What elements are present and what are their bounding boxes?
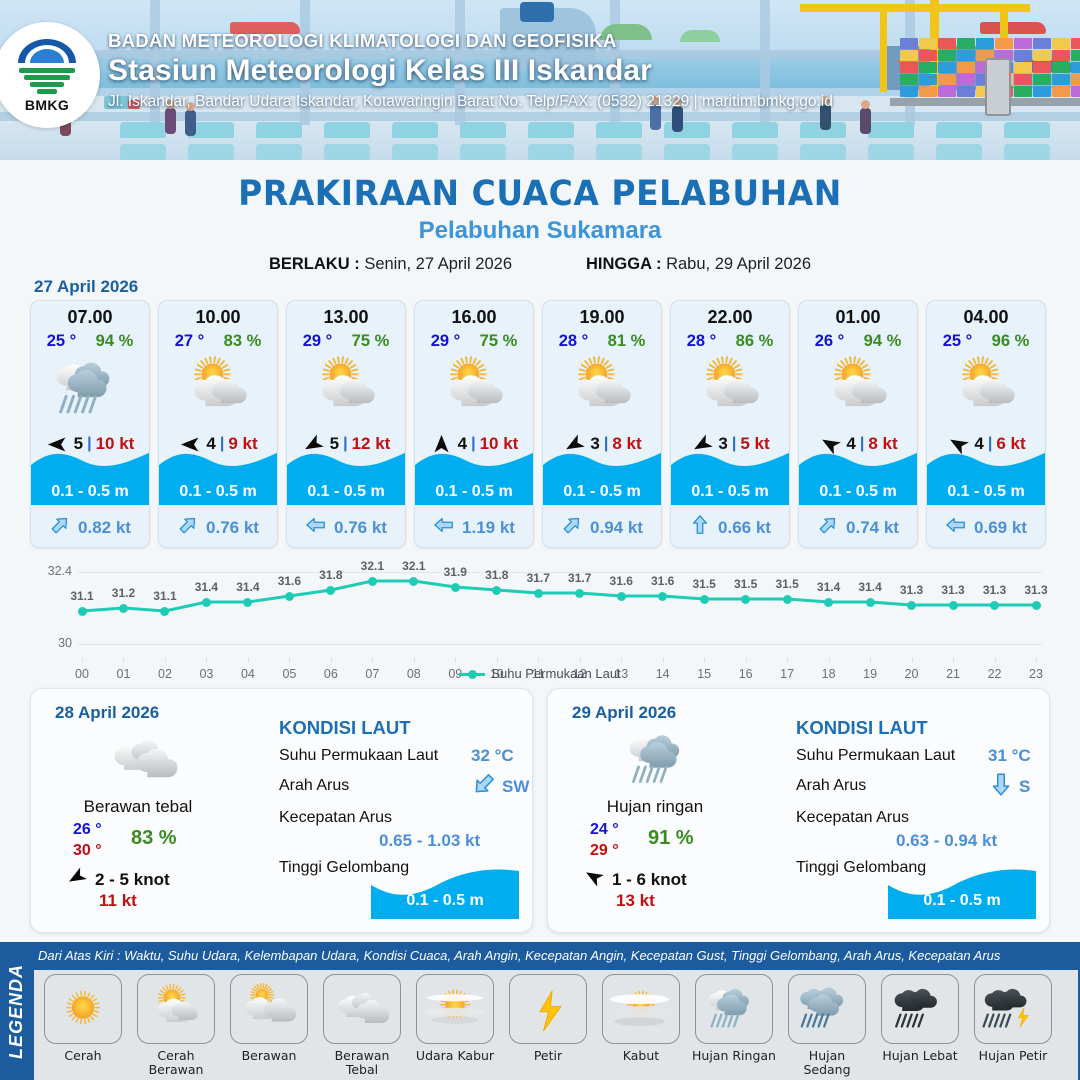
station-address: Jl. Iskandar, Bandar Udara Iskandar, Kot… [108, 93, 833, 111]
daily-temp-min: 24 ° [590, 821, 619, 839]
card-humidity: 81 % [608, 332, 646, 351]
card-time: 04.00 [927, 307, 1045, 328]
shipping-container [1033, 38, 1051, 49]
shipping-container [1014, 50, 1032, 61]
waiting-chair [460, 122, 506, 138]
chart-point-label: 31.8 [480, 568, 514, 582]
daily-wind-range: 1 - 6 knot [612, 870, 687, 890]
card-current-speed: 0.82 kt [78, 518, 131, 538]
card-current-row: 0.69 kt [927, 514, 1045, 541]
waiting-chair [460, 144, 506, 160]
chart-xtick [704, 657, 705, 663]
card-weather-icon [671, 353, 789, 425]
card-temp-hum-row: 28 ° 86 % [671, 332, 789, 351]
daily-forecast-panel: 28 April 2026 Berawan tebal 26 ° 30 ° 83… [30, 688, 533, 933]
card-current-direction [433, 514, 455, 541]
card-time: 07.00 [31, 307, 149, 328]
card-current-direction [177, 514, 199, 541]
hujan-petir-icon [978, 980, 1048, 1038]
legend-item: Hujan Petir [970, 974, 1056, 1080]
legend-item-label: Hujan Petir [979, 1049, 1048, 1063]
legend-icon-box [602, 974, 680, 1044]
cerah-berawan-icon [556, 356, 648, 422]
card-air-temperature: 25 ° [47, 332, 77, 351]
cerah-berawan-icon [172, 356, 264, 422]
hourly-forecast-card: 07.00 25 ° 94 % 5 | 10 kt 0.1 - 0.5 m 0.… [30, 300, 150, 548]
card-wave-height: 0.1 - 0.5 m [31, 483, 149, 501]
chart-data-point [534, 589, 543, 598]
daily-condition: Berawan tebal [43, 797, 233, 817]
legend-item: Cerah [40, 974, 126, 1080]
legend-icon-box [509, 974, 587, 1044]
chart-point-label: 31.5 [687, 577, 721, 591]
shipping-container [900, 50, 918, 61]
shipping-container [1014, 38, 1032, 49]
card-weather-icon [159, 353, 277, 425]
hujan-ringan-icon [699, 980, 769, 1038]
chart-xtick [289, 657, 290, 663]
shipping-container [957, 50, 975, 61]
shipping-container [1052, 38, 1070, 49]
card-current-speed: 0.74 kt [846, 518, 899, 538]
person-silhouette [165, 108, 176, 134]
org-name: BADAN METEOROLOGI KLIMATOLOGI DAN GEOFIS… [108, 30, 833, 52]
card-temp-hum-row: 28 ° 81 % [543, 332, 661, 351]
card-current-row: 1.19 kt [415, 514, 533, 541]
chart-xtick [372, 657, 373, 663]
daily-date: 29 April 2026 [572, 703, 676, 723]
card-humidity: 96 % [992, 332, 1030, 351]
card-current-speed: 0.66 kt [718, 518, 771, 538]
card-current-row: 0.94 kt [543, 514, 661, 541]
card-time: 13.00 [287, 307, 405, 328]
daily-forecast-panel: 29 April 2026 Hujan ringan 24 ° 29 ° 91 … [547, 688, 1050, 933]
current-direction-arrow-icon [305, 514, 327, 536]
legend-icon-box [416, 974, 494, 1044]
card-weather-icon [543, 353, 661, 425]
card-wave-height: 0.1 - 0.5 m [159, 483, 277, 501]
chart-point-label: 32.1 [355, 559, 389, 573]
card-temp-hum-row: 29 ° 75 % [287, 332, 405, 351]
daily-temp-min: 26 ° [73, 821, 102, 839]
shipping-container [1014, 86, 1032, 97]
daily-temp-max: 30 ° [73, 842, 102, 860]
daily-wind-range: 2 - 5 knot [95, 870, 170, 890]
chart-xtick [455, 657, 456, 663]
legend-item-label: Cerah [64, 1049, 101, 1063]
waiting-chair [188, 144, 234, 160]
legend-icon-strip: Cerah Cerah Berawan Berawan Berawan Teba… [34, 970, 1078, 1080]
legend-item: Cerah Berawan [133, 974, 219, 1080]
shipping-container [957, 74, 975, 85]
page-subtitle: Pelabuhan Sukamara [0, 217, 1080, 245]
chart-xtick [206, 657, 207, 663]
wind-direction-arrow-icon [63, 863, 90, 890]
legend-item: Hujan Lebat [877, 974, 963, 1080]
chart-data-point [949, 601, 958, 610]
chart-point-label: 31.4 [231, 580, 265, 594]
cerah-berawan-icon [812, 356, 904, 422]
shipping-container [919, 62, 937, 73]
card-humidity: 75 % [352, 332, 390, 351]
card-current-speed: 1.19 kt [462, 518, 515, 538]
legend-section: LEGENDA Dari Atas Kiri : Waktu, Suhu Uda… [0, 942, 1080, 1080]
shipping-container [900, 38, 918, 49]
chart-point-label: 32.1 [397, 559, 431, 573]
card-humidity: 94 % [864, 332, 902, 351]
hourly-date-label: 27 April 2026 [34, 277, 138, 297]
shipping-container [976, 38, 994, 49]
shipping-container [1052, 50, 1070, 61]
legend-item: Hujan Sedang [784, 974, 870, 1080]
ship-silhouette [980, 22, 1046, 34]
card-current-direction [305, 514, 327, 541]
legend-item-label: Udara Kabur [416, 1049, 494, 1063]
hourly-forecast-card: 19.00 28 ° 81 % 3 | 8 kt 0.1 - 0.5 m 0.9… [542, 300, 662, 548]
card-current-row: 0.74 kt [799, 514, 917, 541]
chart-point-label: 31.4 [853, 580, 887, 594]
legend-item: Kabut [598, 974, 684, 1080]
chart-point-label: 31.1 [148, 589, 182, 603]
sst-label: Suhu Permukaan Laut [279, 747, 438, 765]
shipping-container [938, 62, 956, 73]
waiting-chair [936, 122, 982, 138]
current-direction-arrow-icon [466, 766, 503, 803]
chart-xtick [995, 657, 996, 663]
shipping-container [1071, 38, 1080, 49]
wind-direction-arrow-icon [580, 863, 607, 890]
waiting-chair [392, 144, 438, 160]
card-humidity: 75 % [480, 332, 518, 351]
shipping-container [957, 62, 975, 73]
legend-item-label: Berawan [242, 1049, 297, 1063]
chart-data-point [907, 601, 916, 610]
chart-data-point [575, 589, 584, 598]
card-current-direction [817, 514, 839, 541]
chart-data-point [451, 583, 460, 592]
card-temp-hum-row: 25 ° 96 % [927, 332, 1045, 351]
current-speed-label: Kecepatan Arus [279, 809, 392, 827]
shipping-container [957, 38, 975, 49]
shipping-container [957, 86, 975, 97]
current-direction-label: Arah Arus [279, 777, 349, 795]
berawan-tebal-icon [327, 980, 397, 1038]
infographic-page: BMKG BADAN METEOROLOGI KLIMATOLOGI DAN G… [0, 0, 1080, 1080]
chart-data-point [409, 577, 418, 586]
current-speed-value: 0.63 - 0.94 kt [896, 831, 997, 851]
card-current-speed: 0.69 kt [974, 518, 1027, 538]
shipping-container [900, 62, 918, 73]
daily-weather-icon [606, 727, 716, 793]
daily-gust: 11 kt [99, 891, 137, 911]
card-wave-height: 0.1 - 0.5 m [543, 483, 661, 501]
berawan-tebal-icon [92, 729, 196, 791]
chart-data-point [160, 607, 169, 616]
card-air-temperature: 27 ° [175, 332, 205, 351]
chart-point-label: 31.6 [604, 574, 638, 588]
chart-point-label: 31.4 [812, 580, 846, 594]
legend-note: Dari Atas Kiri : Waktu, Suhu Udara, Kele… [38, 948, 1000, 963]
header-text-block: BADAN METEOROLOGI KLIMATOLOGI DAN GEOFIS… [108, 30, 833, 111]
shipping-container [1052, 74, 1070, 85]
cerah-berawan-icon [940, 356, 1032, 422]
daily-temp-max: 29 ° [590, 842, 619, 860]
logo-green-icon [16, 68, 78, 94]
chart-xtick [787, 657, 788, 663]
legend-item-label: Petir [534, 1049, 562, 1063]
shipping-container [938, 38, 956, 49]
petir-icon [513, 980, 583, 1038]
chart-point-label: 31.7 [563, 571, 597, 585]
chart-point-label: 31.3 [936, 583, 970, 597]
hourly-forecast-card: 22.00 28 ° 86 % 3 | 5 kt 0.1 - 0.5 m 0.6… [670, 300, 790, 548]
hourly-forecast-card: 04.00 25 ° 96 % 4 | 6 kt 0.1 - 0.5 m 0.6… [926, 300, 1046, 548]
legend-icon-box [788, 974, 866, 1044]
info-kiosk [985, 58, 1011, 116]
valid-from-value: Senin, 27 April 2026 [364, 255, 512, 273]
shipping-container [1014, 74, 1032, 85]
chart-data-point [285, 592, 294, 601]
chart-point-label: 31.3 [895, 583, 929, 597]
current-direction-value: SW [502, 777, 529, 797]
station-name: Stasiun Meteorologi Kelas III Iskandar [108, 54, 833, 88]
chart-data-point [243, 598, 252, 607]
logo-arcs-icon [16, 39, 78, 65]
udara-kabur-icon [420, 980, 490, 1038]
daily-current-arrow [471, 771, 497, 802]
waiting-chair [664, 122, 710, 138]
card-humidity: 83 % [224, 332, 262, 351]
legend-side-title-text: LEGENDA [6, 963, 27, 1058]
shipping-container [1071, 86, 1080, 97]
card-current-speed: 0.76 kt [206, 518, 259, 538]
shipping-container [919, 86, 937, 97]
valid-from-label: BERLAKU : [269, 255, 360, 273]
chart-point-label: 31.5 [729, 577, 763, 591]
current-direction-value: S [1019, 777, 1030, 797]
legend-item-label: Cerah Berawan [133, 1049, 219, 1077]
waiting-chair [120, 122, 166, 138]
person-silhouette [860, 108, 871, 134]
shipping-container [900, 74, 918, 85]
waiting-chair [868, 144, 914, 160]
valid-until-label: HINGGA : [586, 255, 661, 273]
chart-data-point [617, 592, 626, 601]
card-time: 16.00 [415, 307, 533, 328]
current-direction-value-row: SW [471, 771, 529, 802]
hourly-forecast-card: 16.00 29 ° 75 % 4 | 10 kt 0.1 - 0.5 m 1.… [414, 300, 534, 548]
waiting-chair [732, 122, 778, 138]
daily-wind-direction [67, 867, 87, 892]
hujan-ringan-icon [44, 356, 136, 422]
daily-humidity: 91 % [648, 827, 694, 850]
waiting-chair [528, 122, 574, 138]
shipping-container [1033, 62, 1051, 73]
legend-item-label: Kabut [623, 1049, 659, 1063]
card-air-temperature: 28 ° [687, 332, 717, 351]
chart-data-point [202, 598, 211, 607]
crane-leg [880, 6, 887, 92]
daily-current-arrow [988, 771, 1014, 802]
legend-icon-box [974, 974, 1052, 1044]
card-current-row: 0.76 kt [287, 514, 405, 541]
shipping-container [938, 50, 956, 61]
chart-xtick [746, 657, 747, 663]
waiting-chair [324, 122, 370, 138]
chart-data-point [866, 598, 875, 607]
chart-xtick [829, 657, 830, 663]
current-speed-value: 0.65 - 1.03 kt [379, 831, 480, 851]
legend-icon-box [323, 974, 401, 1044]
current-direction-label: Arah Arus [796, 777, 866, 795]
daily-wind-row: 2 - 5 knot [67, 867, 170, 892]
card-current-speed: 0.76 kt [334, 518, 387, 538]
card-current-direction [561, 514, 583, 541]
card-current-direction [49, 514, 71, 541]
chart-point-label: 31.4 [189, 580, 223, 594]
chart-xtick [912, 657, 913, 663]
current-direction-arrow-icon [812, 509, 843, 540]
waiting-chair [120, 144, 166, 160]
shipping-container [938, 74, 956, 85]
chart-xtick [123, 657, 124, 663]
shipping-container [919, 74, 937, 85]
card-wave-height: 0.1 - 0.5 m [927, 483, 1045, 501]
hourly-forecast-card: 10.00 27 ° 83 % 4 | 9 kt 0.1 - 0.5 m 0.7… [158, 300, 278, 548]
chart-xtick [248, 657, 249, 663]
card-air-temperature: 25 ° [943, 332, 973, 351]
daily-condition: Hujan ringan [560, 797, 750, 817]
card-wave-height: 0.1 - 0.5 m [671, 483, 789, 501]
chart-xtick [331, 657, 332, 663]
daily-wave-height: 0.1 - 0.5 m [888, 892, 1036, 910]
daily-humidity: 83 % [131, 827, 177, 850]
person-silhouette [185, 110, 196, 136]
waiting-chair [664, 144, 710, 160]
card-current-row: 0.76 kt [159, 514, 277, 541]
chart-xtick [414, 657, 415, 663]
shipping-container [1052, 62, 1070, 73]
valid-from: BERLAKU : Senin, 27 April 2026 [269, 255, 512, 274]
daily-wind-direction [584, 867, 604, 892]
shipping-container [1014, 62, 1032, 73]
cerah-berawan-icon [141, 980, 211, 1038]
chart-data-point [326, 586, 335, 595]
title-block: PRAKIRAAN CUACA PELABUHAN Pelabuhan Suka… [0, 160, 1080, 274]
waiting-chair [256, 122, 302, 138]
hujan-sedang-icon [792, 980, 862, 1038]
cerah-icon [48, 980, 118, 1038]
chart-legend: Suhu Permukaan Laut [30, 666, 1050, 681]
chart-data-point [658, 592, 667, 601]
current-direction-arrow-icon [44, 509, 75, 540]
kabut-icon [606, 980, 676, 1038]
chart-point-label: 31.6 [272, 574, 306, 588]
shipping-container [938, 86, 956, 97]
chart-data-point [1032, 601, 1041, 610]
hujan-ringan-icon [609, 729, 713, 791]
chart-xtick [1036, 657, 1037, 663]
legend-icon-box [230, 974, 308, 1044]
chart-point-label: 31.6 [646, 574, 680, 588]
current-direction-arrow-icon [433, 514, 455, 536]
chart-point-label: 31.8 [314, 568, 348, 582]
card-wave-height: 0.1 - 0.5 m [799, 483, 917, 501]
waiting-chair [732, 144, 778, 160]
legend-icon-box [44, 974, 122, 1044]
shipping-container [1033, 74, 1051, 85]
waiting-chair [324, 144, 370, 160]
chart-xtick [580, 657, 581, 663]
card-air-temperature: 29 ° [303, 332, 333, 351]
waiting-chair [256, 144, 302, 160]
legend-item: Berawan [226, 974, 312, 1080]
ship-funnel [520, 2, 554, 22]
card-temp-hum-row: 29 ° 75 % [415, 332, 533, 351]
logo-text: BMKG [25, 97, 69, 113]
current-speed-label: Kecepatan Arus [796, 809, 909, 827]
validity-row: BERLAKU : Senin, 27 April 2026 HINGGA : … [0, 255, 1080, 274]
sea-condition-heading: KONDISI LAUT [796, 717, 928, 739]
chart-point-label: 31.3 [1019, 583, 1053, 597]
daily-forecast-panels: 28 April 2026 Berawan tebal 26 ° 30 ° 83… [30, 688, 1050, 933]
waiting-chair [868, 122, 914, 138]
chart-xtick [621, 657, 622, 663]
chart-data-point [492, 586, 501, 595]
cerah-berawan-icon [684, 356, 776, 422]
legend-icon-box [695, 974, 773, 1044]
card-temp-hum-row: 26 ° 94 % [799, 332, 917, 351]
card-current-speed: 0.94 kt [590, 518, 643, 538]
waiting-chair [596, 122, 642, 138]
chart-point-label: 31.7 [521, 571, 555, 585]
card-wave-height: 0.1 - 0.5 m [415, 483, 533, 501]
chart-data-point [824, 598, 833, 607]
chart-data-point [78, 607, 87, 616]
card-air-temperature: 29 ° [431, 332, 461, 351]
card-wave-height: 0.1 - 0.5 m [287, 483, 405, 501]
shipping-container [1071, 50, 1080, 61]
daily-gust: 13 kt [616, 891, 655, 911]
chart-data-point [119, 604, 128, 613]
shipping-container [919, 50, 937, 61]
current-direction-arrow-icon [945, 514, 967, 536]
waiting-chair [936, 144, 982, 160]
sst-value: 32 °C [471, 746, 514, 766]
crane-boom [800, 4, 1030, 12]
legend-side-title: LEGENDA [0, 942, 32, 1080]
legend-item-label: Hujan Lebat [882, 1049, 957, 1063]
chart-xtick [870, 657, 871, 663]
chart-point-label: 31.2 [106, 586, 140, 600]
chart-data-point [990, 601, 999, 610]
legend-item-label: Hujan Sedang [784, 1049, 870, 1077]
chart-point-label: 31.1 [65, 589, 99, 603]
waiting-chair [1004, 122, 1050, 138]
hujan-lebat-icon [885, 980, 955, 1038]
card-time: 10.00 [159, 307, 277, 328]
sea-condition-heading: KONDISI LAUT [279, 717, 411, 739]
waiting-chair [528, 144, 574, 160]
hourly-forecast-card: 13.00 29 ° 75 % 5 | 12 kt 0.1 - 0.5 m 0.… [286, 300, 406, 548]
card-air-temperature: 28 ° [559, 332, 589, 351]
chart-data-point [741, 595, 750, 604]
chart-point-label: 31.3 [978, 583, 1012, 597]
waiting-chair [596, 144, 642, 160]
chart-data-point [783, 595, 792, 604]
berawan-icon [234, 980, 304, 1038]
chart-legend-marker-icon [459, 673, 485, 676]
